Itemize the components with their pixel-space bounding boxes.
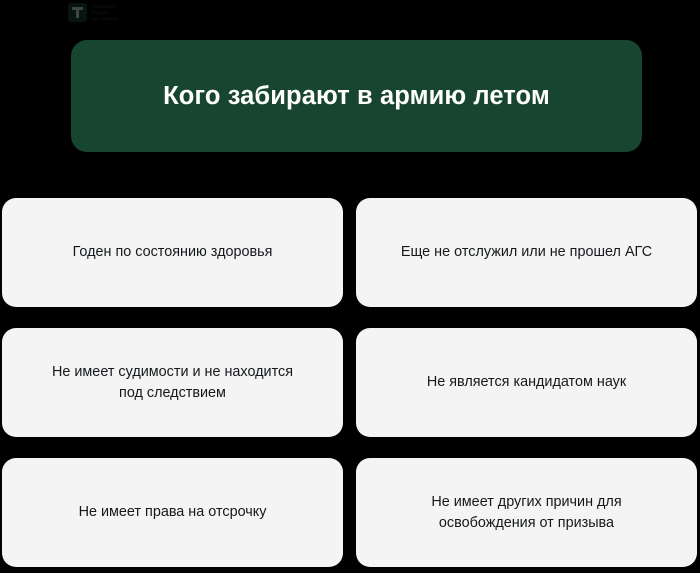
criteria-card-text: Не имеет судимости и не находится под сл… xyxy=(52,362,293,404)
logo: Тинькофф Журнал про деньги xyxy=(68,3,117,22)
criteria-card: Не является кандидатом наук xyxy=(356,328,697,437)
page-title: Кого забирают в армию летом xyxy=(163,81,550,112)
criteria-card: Не имеет права на отсрочку xyxy=(2,458,343,567)
criteria-card-grid: Годен по состоянию здоровья Еще не отслу… xyxy=(2,198,697,567)
logo-text-line-1: Тинькофф xyxy=(91,4,117,9)
criteria-card: Не имеет других причин для освобождения … xyxy=(356,458,697,567)
criteria-card-text: Не имеет права на отсрочку xyxy=(79,502,267,523)
title-banner: Кого забирают в армию летом xyxy=(71,40,642,152)
logo-text: Тинькофф Журнал про деньги xyxy=(91,4,117,21)
logo-text-line-3: про деньги xyxy=(91,16,117,21)
criteria-card-text: Еще не отслужил или не прошел АГС xyxy=(401,242,652,263)
criteria-card: Еще не отслужил или не прошел АГС xyxy=(356,198,697,307)
criteria-card-text: Не является кандидатом наук xyxy=(427,372,626,393)
logo-text-line-2: Журнал xyxy=(91,10,117,15)
logo-mark-icon xyxy=(68,3,87,22)
criteria-card: Годен по состоянию здоровья xyxy=(2,198,343,307)
criteria-card: Не имеет судимости и не находится под сл… xyxy=(2,328,343,437)
criteria-card-text: Годен по состоянию здоровья xyxy=(73,242,273,263)
criteria-card-text: Не имеет других причин для освобождения … xyxy=(431,492,621,534)
